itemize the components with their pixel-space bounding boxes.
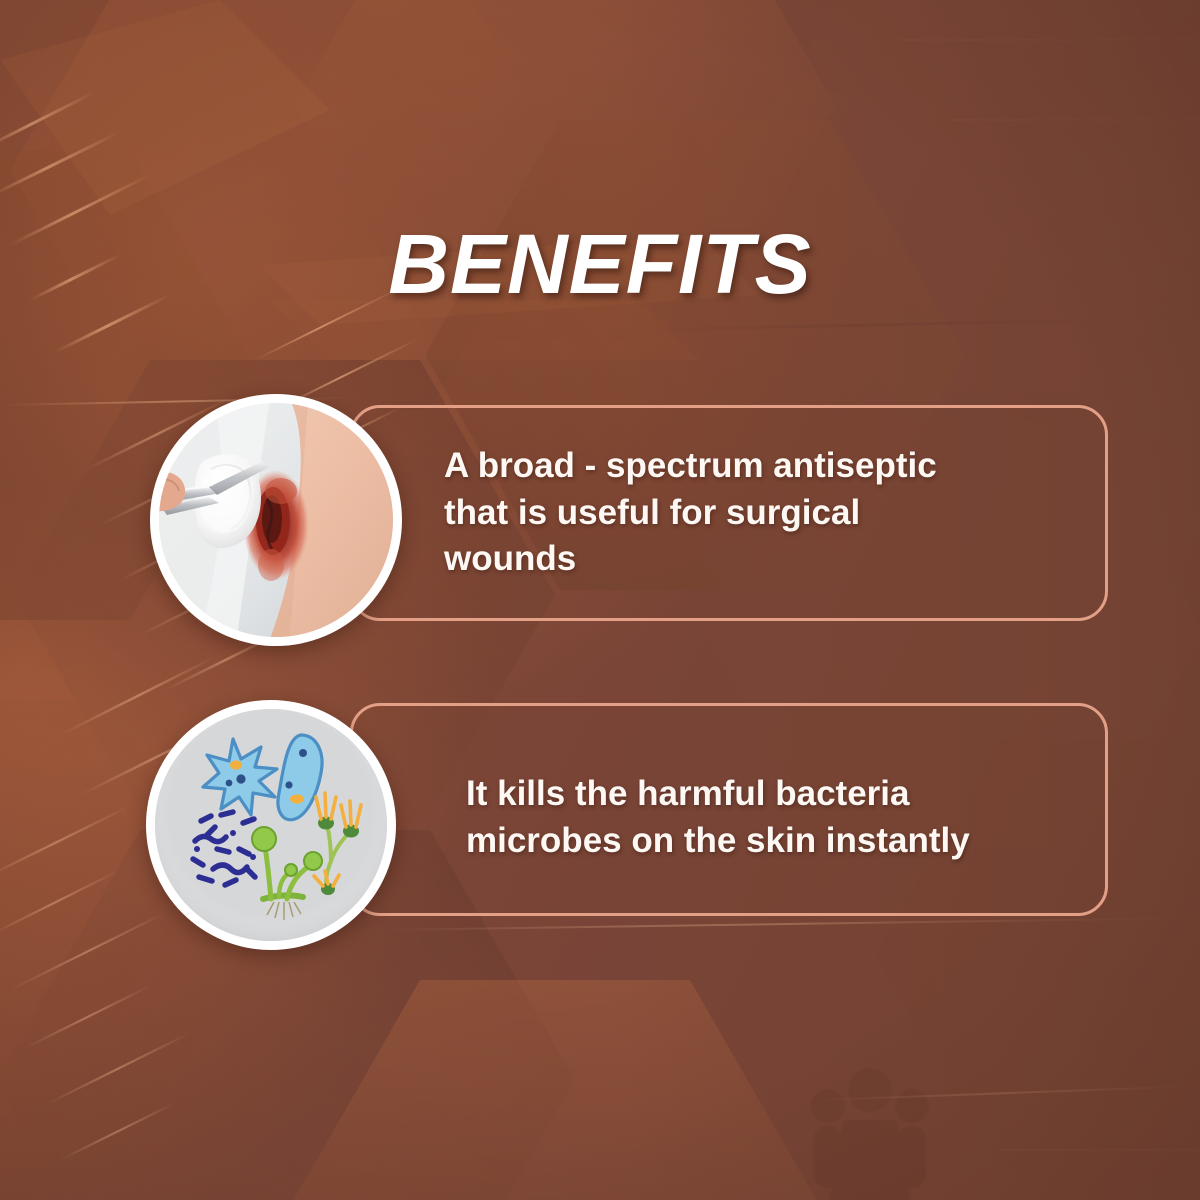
benefit-icon-2-microbes [146, 700, 396, 950]
wound-treatment-photo [159, 403, 393, 637]
microbes-illustration [155, 709, 387, 941]
page-title: BENEFITS [0, 222, 1200, 306]
people-watermark-icon [770, 1060, 970, 1200]
benefit-icon-1-image-clip [159, 403, 393, 637]
poster-canvas: BENEFITS A broad - spectrum antiseptic t… [0, 0, 1200, 1200]
benefit-text-2: It kills the harmful bacteria microbes o… [466, 770, 1086, 865]
benefit-text-1: A broad - spectrum antiseptic that is us… [444, 443, 1074, 583]
benefit-icon-2-image-clip [155, 709, 387, 941]
benefit-icon-1-wound-photo [150, 394, 402, 646]
